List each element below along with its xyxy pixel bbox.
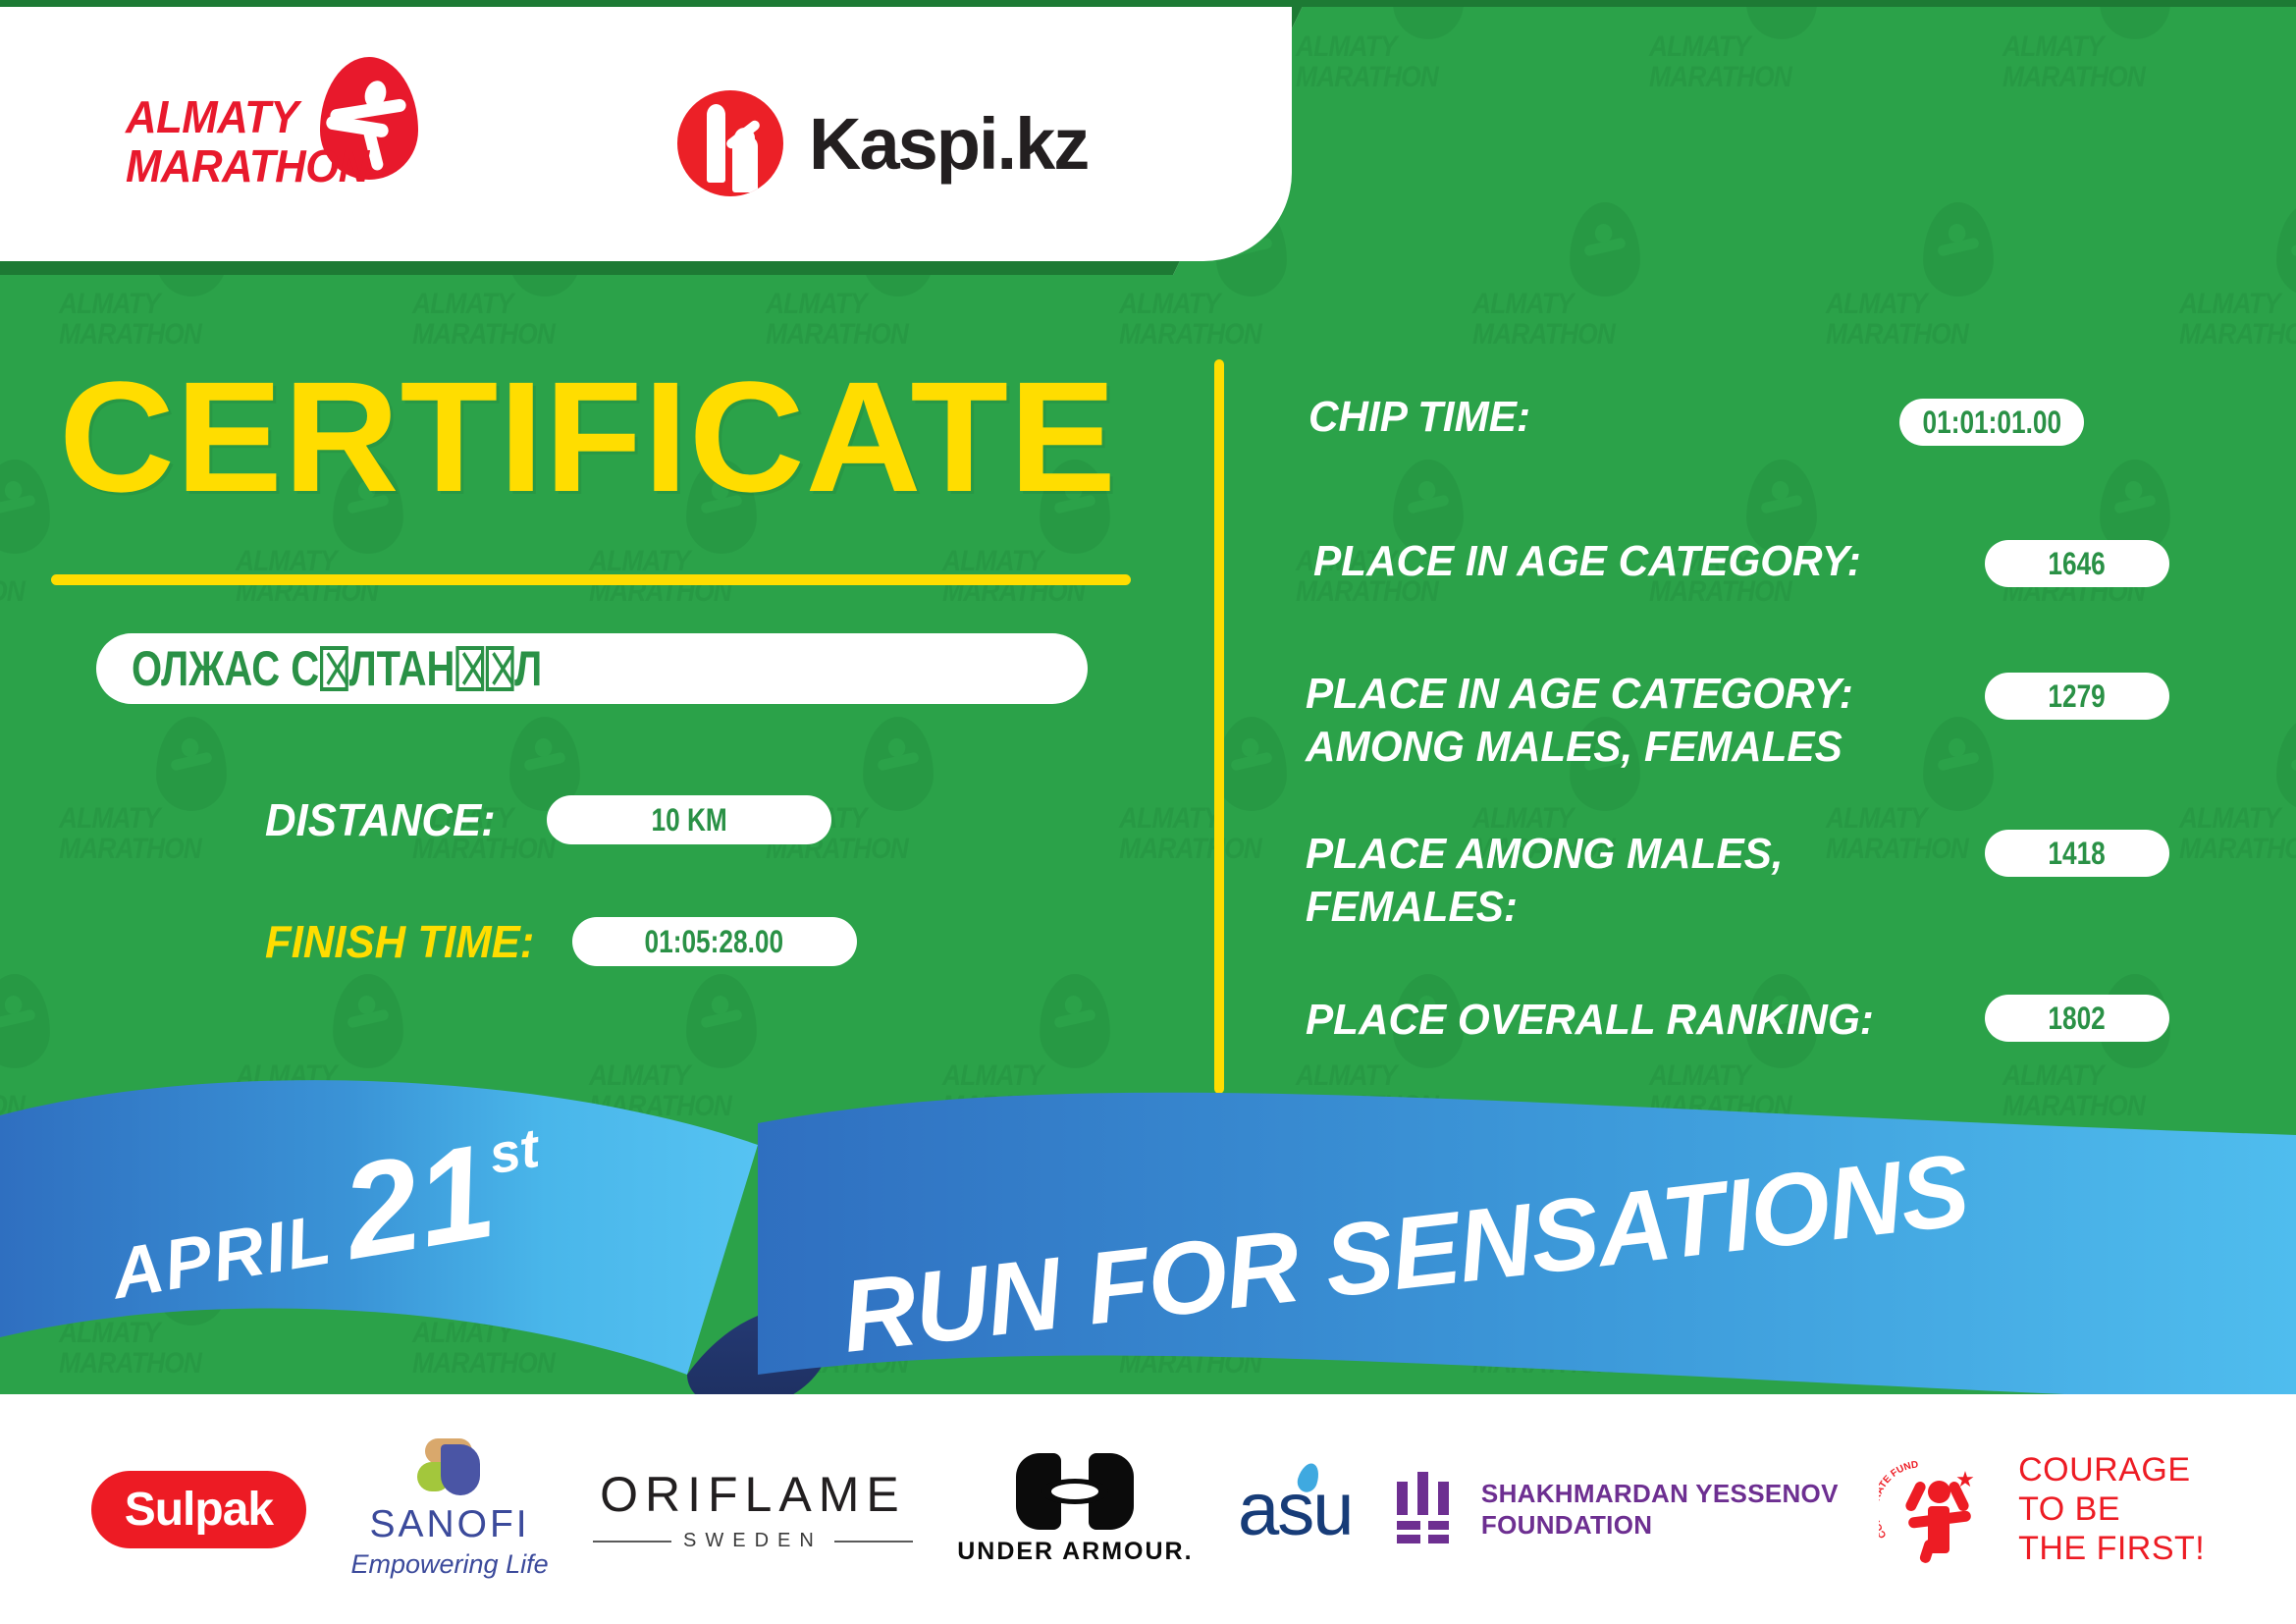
sponsor-logo-courage-fund: CORPORATE FUND ★ COURAGE TO BE THE FIRST… [1883, 1450, 2205, 1568]
watermark-tile: ALMATY MARATHON [1472, 198, 1708, 370]
chip-time-label: CHIP TIME: [1308, 391, 1530, 444]
watermark-tile: ALMATY MARATHON [1826, 198, 2061, 370]
place-overall-pill: 1802 [1985, 995, 2169, 1042]
place-overall-value: 1802 [2049, 1001, 2106, 1037]
sanofi-tagline: Empowering Life [351, 1549, 549, 1580]
sponsor-list: Sulpak SANOFI Empowering Life ORIFLAME S… [0, 1394, 2296, 1624]
missing-glyph-box [486, 646, 514, 691]
place-age-category-gender-label: PLACE IN AGE CATEGORY: AMONG MALES, FEMA… [1306, 668, 1853, 774]
place-overall-row: PLACE OVERALL RANKING: [1306, 994, 1897, 1047]
distance-row: DISTANCE: 10 KM [265, 793, 831, 846]
place-age-category-gender-value: 1279 [2049, 678, 2106, 715]
chip-time-value: 01:01:01.00 [1922, 405, 2061, 441]
oriflame-rule-left [593, 1541, 671, 1543]
almaty-marathon-wordmark: ALMATY MARATHON [126, 92, 369, 190]
watermark-tile: ALMATY MARATHON [2002, 0, 2238, 113]
chip-time-row: CHIP TIME: [1308, 391, 1539, 444]
asu-wordmark: asu [1238, 1467, 1353, 1552]
sanofi-wordmark: SANOFI [369, 1503, 529, 1546]
kaspi-wordmark: Kaspi.kz [809, 102, 1088, 186]
watermark-tile: ALMATY MARATHON [59, 713, 294, 885]
sponsor-logo-sanofi: SANOFI Empowering Life [351, 1438, 549, 1580]
finish-time-label: FINISH TIME: [265, 915, 534, 968]
oriflame-rule-right [834, 1541, 913, 1543]
place-age-category-label: PLACE IN AGE CATEGORY: [1313, 535, 1861, 588]
sponsor-logo-oriflame: ORIFLAME SWEDEN [593, 1466, 913, 1552]
almaty-marathon-logo: ALMATY MARATHON [126, 61, 450, 189]
under-armour-wordmark: UNDER ARMOUR. [957, 1538, 1193, 1566]
sponsor-logo-yessenov-foundation: SHAKHMARDAN YESSENOV FOUNDATION [1397, 1472, 1839, 1546]
chip-time-pill: 01:01:01.00 [1899, 399, 2084, 446]
watermark-tile: ALMATY MARATHON [2179, 198, 2296, 370]
oriflame-country: SWEDEN [683, 1530, 823, 1552]
place-among-gender-value: 1418 [2049, 836, 2106, 872]
watermark-tile: ALMATY MARATHON [2179, 713, 2296, 885]
distance-label: DISTANCE: [265, 793, 496, 846]
sanofi-icon [411, 1438, 488, 1499]
sponsor-logo-under-armour: UNDER ARMOUR. [957, 1453, 1193, 1566]
place-age-category-row: PLACE IN AGE CATEGORY: [1313, 535, 1884, 588]
missing-glyph-box [320, 646, 348, 691]
place-age-category-value: 1646 [2049, 546, 2106, 582]
place-age-category-pill: 1646 [1985, 540, 2169, 587]
place-among-gender-pill: 1418 [1985, 830, 2169, 877]
event-day: 21 [336, 1131, 502, 1272]
sponsor-logo-asu: asu [1238, 1467, 1353, 1552]
courage-figure-icon: CORPORATE FUND ★ [1883, 1455, 2001, 1563]
finish-time-pill: 01:05:28.00 [572, 917, 857, 966]
participant-name-value: ОЛЖАС СЛТАНЛ [132, 640, 542, 697]
missing-glyph-box [455, 646, 484, 691]
kaspi-logo: Kaspi.kz [677, 90, 1088, 196]
certificate-page: ALMATY MARATHONALMATY MARATHONALMATY MAR… [0, 0, 2296, 1624]
sponsor-footer: Sulpak SANOFI Empowering Life ORIFLAME S… [0, 1394, 2296, 1624]
kaspi-people-icon [677, 90, 783, 196]
watermark-tile: ALMATY MARATHON [1296, 0, 1531, 113]
under-armour-icon [1016, 1453, 1134, 1530]
place-age-category-gender-row: PLACE IN AGE CATEGORY: AMONG MALES, FEMA… [1306, 668, 1876, 774]
almaty-logo-line1: ALMATY [126, 92, 369, 141]
distance-pill: 10 KM [547, 795, 831, 844]
finish-time-row: FINISH TIME: 01:05:28.00 [265, 915, 857, 968]
oriflame-wordmark: ORIFLAME [600, 1466, 906, 1523]
distance-value: 10 KM [651, 802, 726, 839]
watermark-tile: ALMATY MARATHON [1649, 0, 1885, 113]
place-age-category-gender-pill: 1279 [1985, 673, 2169, 720]
title-underline [51, 574, 1131, 585]
event-day-suffix: st [485, 1115, 544, 1186]
yessenov-icon [1397, 1472, 1458, 1546]
sponsor-logo-sulpak: Sulpak [91, 1471, 306, 1548]
oriflame-sub: SWEDEN [593, 1530, 913, 1552]
page-title: CERTIFICATE [59, 368, 1117, 506]
place-among-gender-label: PLACE AMONG MALES, FEMALES: [1306, 828, 1784, 934]
sulpak-wordmark: Sulpak [125, 1483, 273, 1537]
place-overall-label: PLACE OVERALL RANKING: [1306, 994, 1874, 1047]
almaty-logo-line2: MARATHON [126, 141, 369, 190]
vertical-divider [1214, 359, 1224, 1094]
finish-time-value: 01:05:28.00 [645, 924, 784, 960]
yessenov-wordmark: SHAKHMARDAN YESSENOV FOUNDATION [1481, 1478, 1839, 1541]
corporate-fund-arc-text: CORPORATE FUND [1879, 1459, 1963, 1543]
participant-name-field: ОЛЖАС СЛТАНЛ [96, 633, 1088, 704]
place-among-gender-row: PLACE AMONG MALES, FEMALES: [1306, 828, 1803, 934]
top-green-stripe [0, 0, 2296, 7]
courage-slogan: COURAGE TO BE THE FIRST! [2018, 1450, 2205, 1568]
